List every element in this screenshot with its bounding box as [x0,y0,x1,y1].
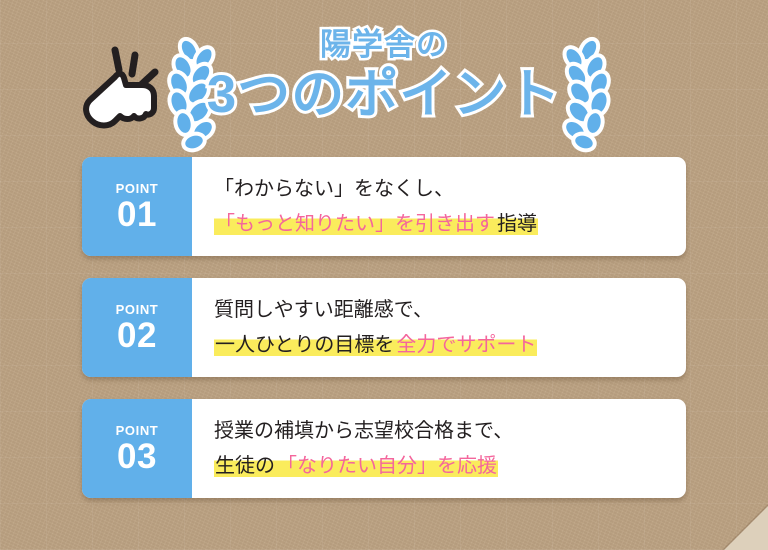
promo-poster: 陽学舎の 3つのポイント POINT 01 「わからない」をなくし、 「もっと知… [0,0,768,550]
point-badge: POINT 03 [82,399,192,498]
point-text-segment: 「なりたい自分」を応援 [276,455,498,477]
point-badge-number: 02 [117,317,157,355]
point-card-list: POINT 01 「わからない」をなくし、 「もっと知りたい」を引き出す指導 P… [82,157,686,520]
point-card[interactable]: POINT 02 質問しやすい距離感で、 一人ひとりの目標を全力でサポート [82,278,686,377]
point-card-body: 「わからない」をなくし、 「もっと知りたい」を引き出す指導 [192,157,686,256]
point-text-line-1: 「わからない」をなくし、 [214,172,672,206]
page-fold-corner [724,506,768,550]
point-badge-label: POINT [116,302,159,317]
point-card[interactable]: POINT 01 「わからない」をなくし、 「もっと知りたい」を引き出す指導 [82,157,686,256]
point-badge: POINT 01 [82,157,192,256]
point-text-segment: 一人ひとりの目標を [214,334,395,356]
title-line-large: 3つのポイント [196,64,572,126]
point-badge-label: POINT [116,181,159,196]
point-text-segment: 「もっと知りたい」を引き出す [214,213,496,235]
point-badge-number: 03 [117,438,157,476]
point-text-segment: 生徒の [214,455,276,477]
point-badge-label: POINT [116,423,159,438]
point-card-body: 授業の補填から志望校合格まで、 生徒の「なりたい自分」を応援 [192,399,686,498]
point-card-body: 質問しやすい距離感で、 一人ひとりの目標を全力でサポート [192,278,686,377]
page-title: 陽学舎の 3つのポイント [196,26,572,126]
point-card[interactable]: POINT 03 授業の補填から志望校合格まで、 生徒の「なりたい自分」を応援 [82,399,686,498]
point-text-segment: 全力でサポート [395,334,537,356]
point-text-line-1: 授業の補填から志望校合格まで、 [214,414,672,448]
point-badge-number: 01 [117,196,157,234]
pointing-hand-cursor-icon [76,44,160,134]
header: 陽学舎の 3つのポイント [0,26,768,144]
point-text-line-1: 質問しやすい距離感で、 [214,293,672,327]
point-text-line-2: 一人ひとりの目標を全力でサポート [214,328,672,362]
point-text-segment: 指導 [496,213,538,235]
title-line-small: 陽学舎の [196,26,572,64]
point-badge: POINT 02 [82,278,192,377]
point-text-line-2: 「もっと知りたい」を引き出す指導 [214,207,672,241]
point-text-line-2: 生徒の「なりたい自分」を応援 [214,449,672,483]
